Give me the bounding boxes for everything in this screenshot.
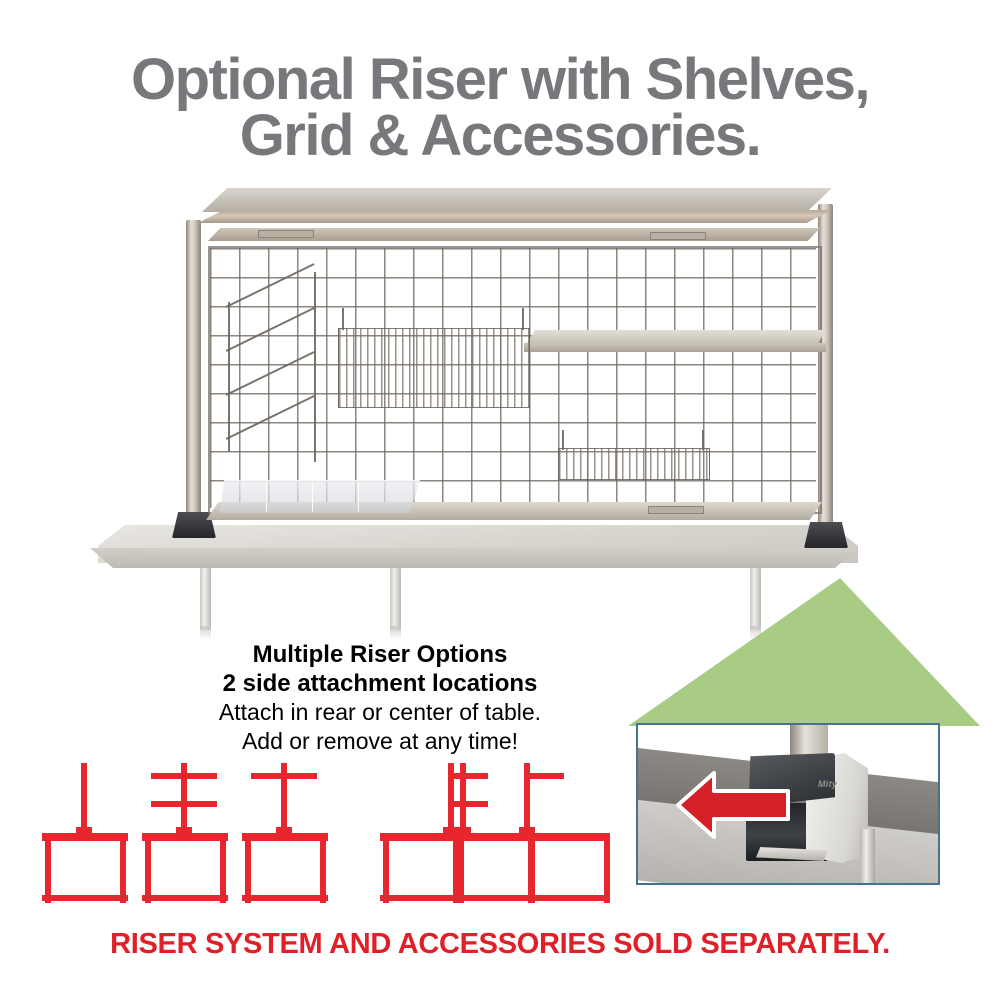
diagram-rear-one-shelf-top-stretcher [242, 895, 328, 901]
basket-hook-right [522, 308, 524, 330]
riser-options-text: Multiple Riser Options 2 side attachment… [130, 640, 630, 756]
callout-cone [628, 578, 980, 728]
utility-rail-hook-right [702, 430, 704, 450]
diagram-center-one-shelf-right-post-base [519, 827, 535, 839]
rail-slot-right [650, 232, 706, 240]
diagram-rear-single-post-post-base [76, 827, 92, 839]
diagram-center-single-post-leg-left [383, 833, 389, 903]
diagram-center-one-shelf-right-top [526, 833, 610, 841]
diagram-center-two-shelf-right-stretcher [450, 895, 536, 901]
diagram-center-one-shelf-right-arm-0 [524, 773, 564, 779]
diagram-center-two-shelf-right-leg-left [453, 833, 459, 903]
diagram-rear-two-shelf-arm-1 [151, 801, 217, 807]
diagram-center-two-shelf-right-arm-0 [448, 773, 488, 779]
diagram-center-two-shelf-right-arm-1 [448, 801, 488, 807]
top-shelf [202, 188, 832, 212]
wire-basket [338, 328, 530, 408]
clamp-foot-right [804, 522, 848, 548]
worktable-edge [90, 548, 858, 568]
riser-post-left [186, 220, 201, 538]
diagram-rear-two-shelf-post-base [176, 827, 192, 839]
diagram-rear-two-shelf-arm-0 [151, 773, 217, 779]
riser-configuration-diagrams [30, 755, 610, 905]
table-leg-2 [390, 568, 401, 630]
utility-rail-hook-left [562, 430, 564, 450]
diagram-center-one-shelf-right-leg-right [604, 833, 610, 903]
diagram-center-two-shelf-right-post-base [443, 827, 459, 839]
diagram-center-one-shelf-right-leg-left [529, 833, 535, 903]
diagram-rear-single-post-stretcher [42, 895, 128, 901]
clamp-detail-inset: Mity [636, 723, 940, 885]
riser-options-bold-2: 2 side attachment locations [130, 669, 630, 698]
sloped-rack [226, 288, 336, 468]
utility-rail-holder [558, 448, 710, 480]
page-title: Optional Riser with Shelves, Grid & Acce… [0, 52, 1000, 164]
table-logo-left: Mity [128, 552, 152, 564]
diagram-center-one-shelf-right-stretcher [526, 895, 610, 901]
inset-table-leg [860, 829, 875, 883]
inset-brand-logo: Mity [818, 779, 837, 789]
diagram-rear-two-shelf-leg-right [220, 833, 226, 903]
basket-hook-left [342, 308, 344, 330]
table-leg-1 [200, 568, 211, 630]
riser-options-reg-2: Add or remove at any time! [130, 727, 630, 756]
diagram-rear-two-shelf-stretcher [142, 895, 228, 901]
clear-bins [220, 480, 420, 513]
top-shelf-edge [198, 210, 832, 223]
diagram-rear-one-shelf-top-leg-right [320, 833, 326, 903]
diagram-rear-one-shelf-top-post-base [276, 827, 292, 839]
sold-separately-banner: RISER SYSTEM AND ACCESSORIES SOLD SEPARA… [0, 928, 1000, 961]
product-photo: Mity DuraWorks [90, 180, 890, 630]
diagram-rear-single-post-leg-right [120, 833, 126, 903]
mid-shelf-edge [524, 343, 826, 352]
rail-slot-left [258, 230, 314, 238]
diagram-rear-one-shelf-top-arm-0 [251, 773, 317, 779]
diagram-rear-two-shelf-leg-left [145, 833, 151, 903]
lower-rail-slot [648, 506, 704, 514]
diagram-rear-one-shelf-top-leg-left [245, 833, 251, 903]
left-arrow-icon [674, 769, 792, 841]
marketing-infographic: Optional Riser with Shelves, Grid & Acce… [0, 0, 1000, 1000]
riser-options-reg-1: Attach in rear or center of table. [130, 698, 630, 727]
diagram-rear-single-post-leg-left [45, 833, 51, 903]
table-logo-right: DuraWorks [598, 554, 661, 566]
riser-options-bold-1: Multiple Riser Options [130, 640, 630, 669]
headline-line-2: Grid & Accessories. [0, 108, 1000, 164]
